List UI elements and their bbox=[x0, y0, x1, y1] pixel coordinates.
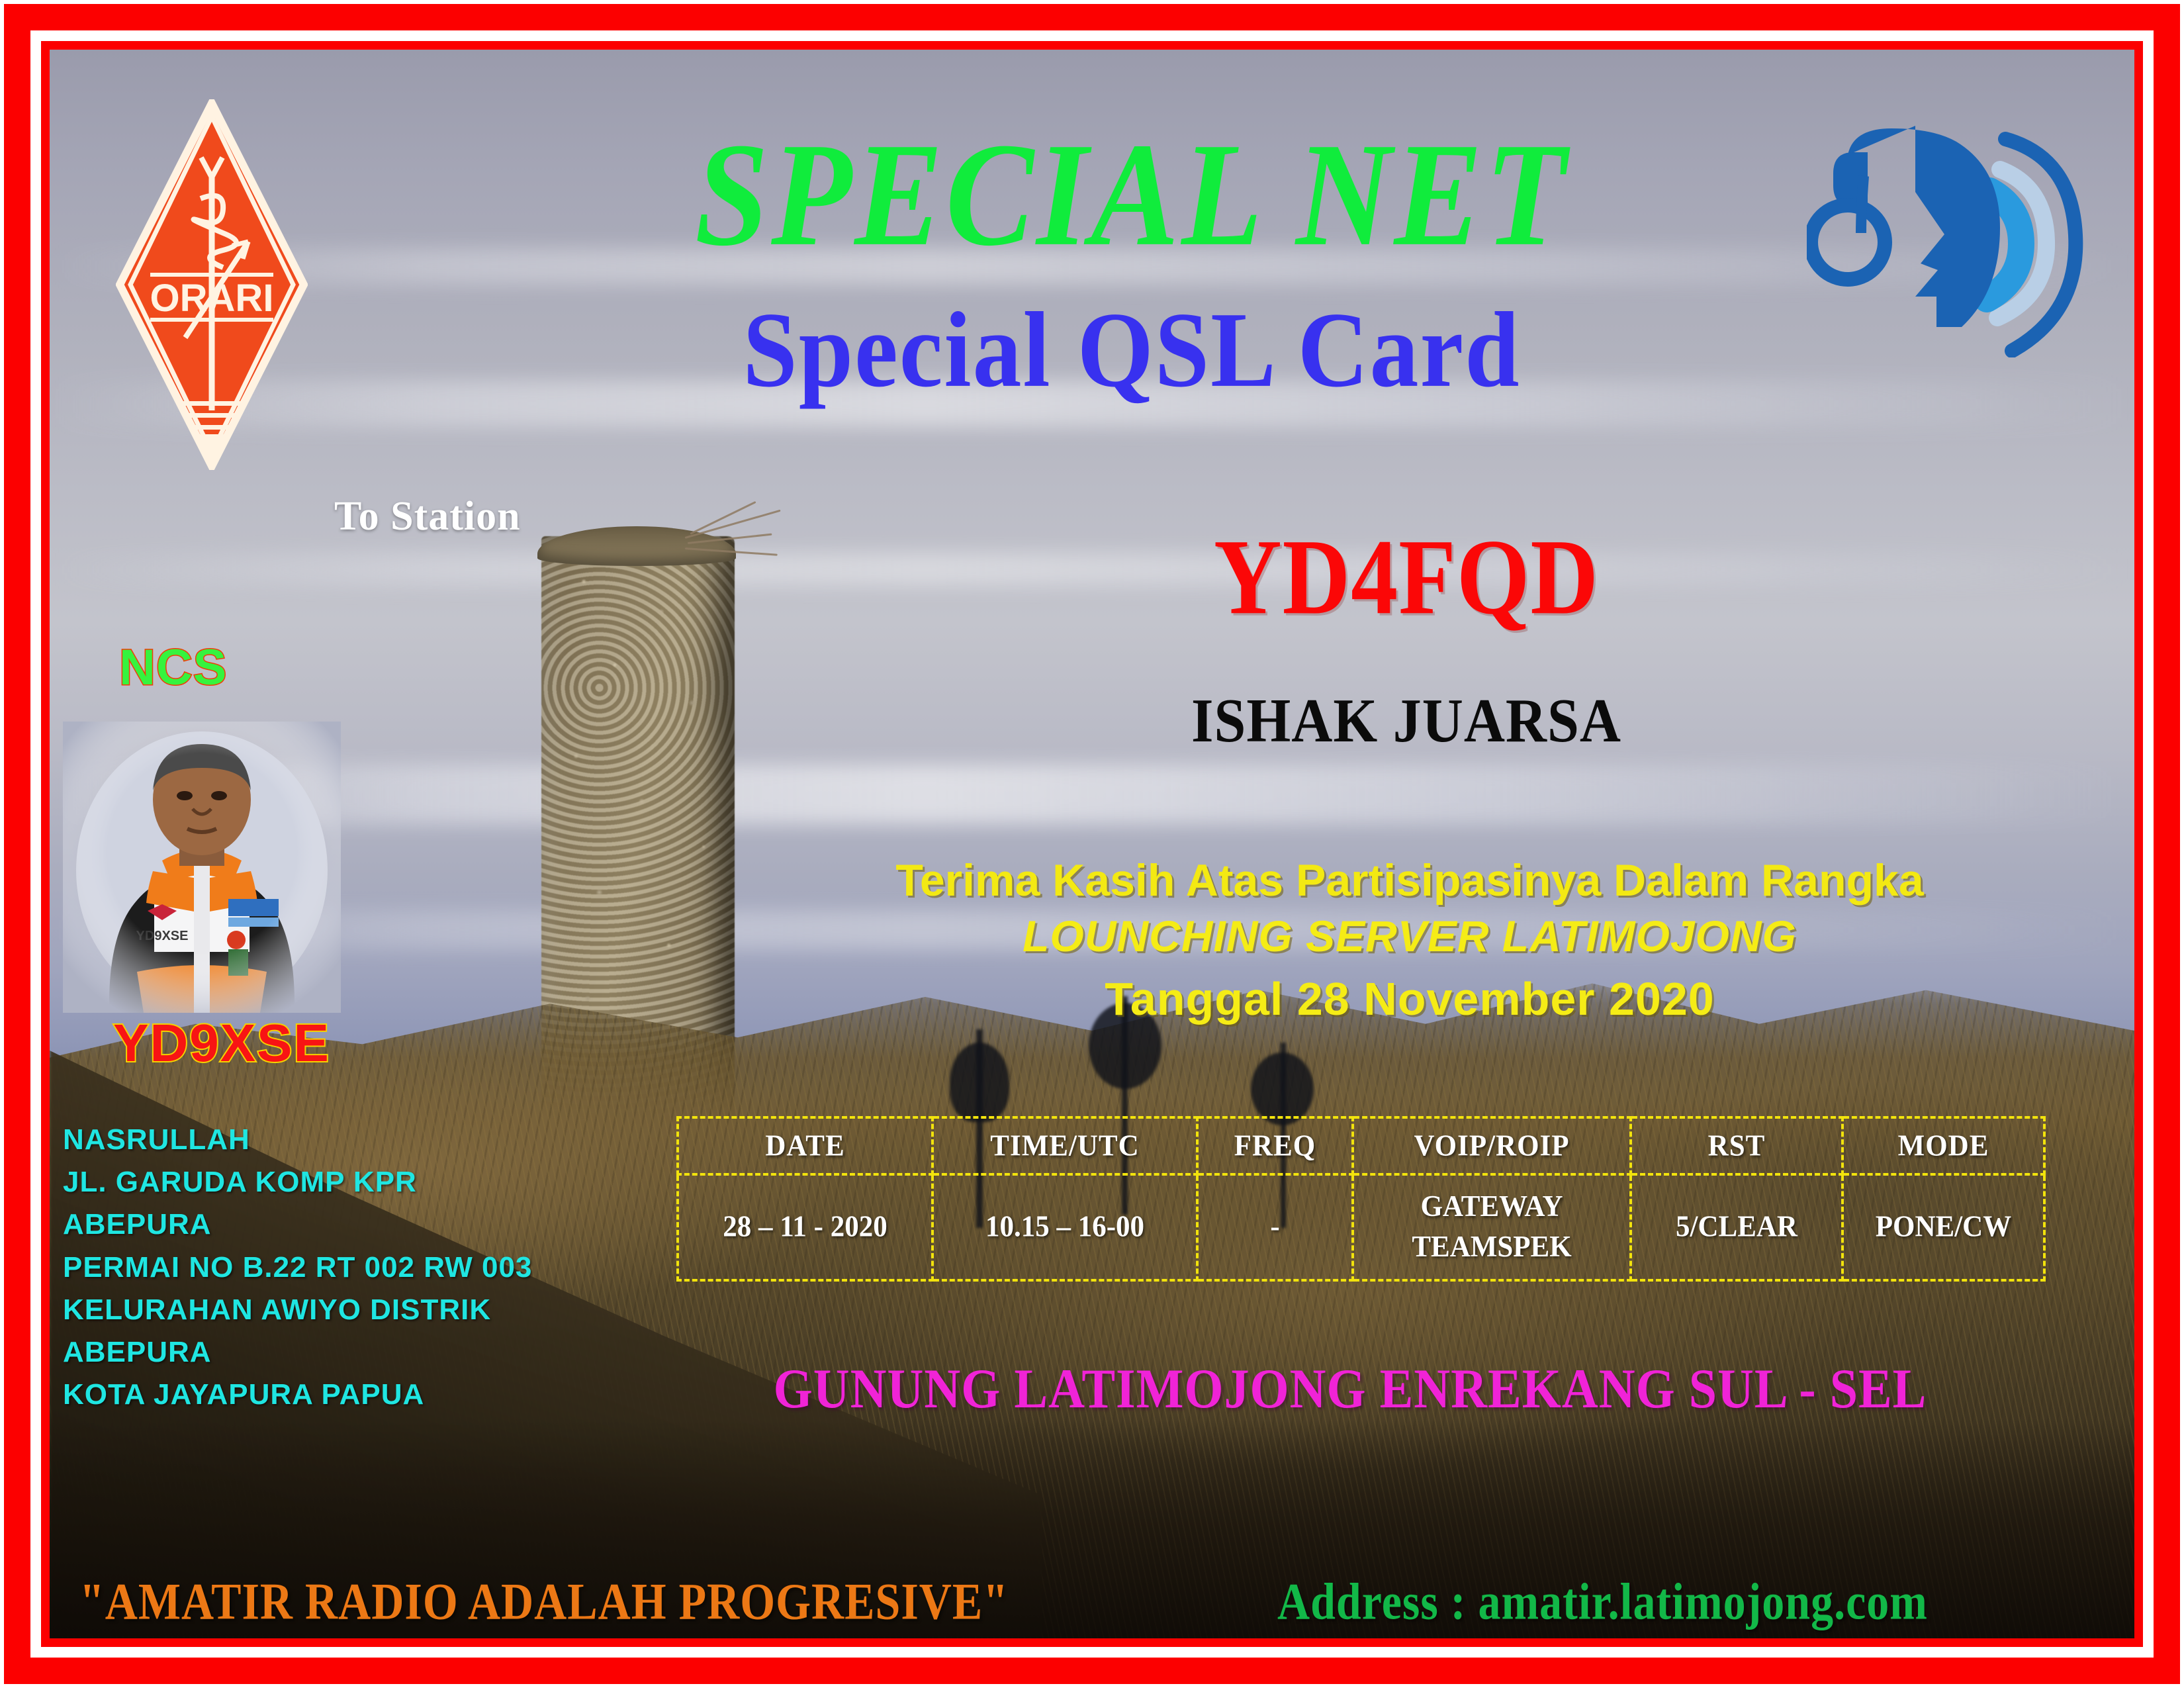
column-header-mode: MODE bbox=[1843, 1116, 2044, 1176]
to-station-label: To Station bbox=[334, 493, 521, 540]
operator-name: ISHAK JUARSA bbox=[721, 689, 2091, 752]
cell-voip-roip: GATEWAY TEAMSPEK bbox=[1353, 1172, 1631, 1283]
cell-voip-roip-line1: GATEWAY bbox=[1355, 1187, 1629, 1227]
column-header-time-utc: TIME/UTC bbox=[933, 1116, 1197, 1176]
event-thanks-block: Terima Kasih Atas Partisipasinya Dalam R… bbox=[721, 854, 2098, 1033]
page-subtitle-qsl-card: Special QSL Card bbox=[0, 297, 2184, 404]
station-callsign: YD4FQD bbox=[721, 522, 2091, 630]
cell-rst: 5/CLEAR bbox=[1631, 1172, 1843, 1283]
address-line-4: PERMAI NO B.22 RT 002 RW 003 bbox=[63, 1246, 532, 1289]
column-header-rst: RST bbox=[1631, 1116, 1843, 1176]
cell-mode: PONE/CW bbox=[1843, 1172, 2044, 1283]
event-line-1: Terima Kasih Atas Partisipasinya Dalam R… bbox=[721, 854, 2098, 907]
event-line-3: Tanggal 28 November 2020 bbox=[721, 966, 2098, 1033]
address-line-5: KELURAHAN AWIYO DISTRIK bbox=[63, 1289, 532, 1331]
ncs-operator-portrait: YD9XSE bbox=[63, 722, 341, 1013]
address-line-7: KOTA JAYAPURA PAPUA bbox=[63, 1374, 532, 1416]
qsl-card: ORARI SPECIAL NET Special QSL Card To St… bbox=[0, 0, 2184, 1688]
content-layer: ORARI SPECIAL NET Special QSL Card To St… bbox=[0, 0, 2184, 1688]
table-header-row: DATE TIME/UTC FREQ VOIP/ROIP RST MODE bbox=[678, 1117, 2044, 1174]
page-title-special-net: SPECIAL NET bbox=[0, 121, 2184, 269]
cell-freq: - bbox=[1197, 1172, 1353, 1283]
address-line-1: NASRULLAH bbox=[63, 1119, 532, 1161]
address-line-3: ABEPURA bbox=[63, 1203, 532, 1246]
mailing-address: NASRULLAH JL. GARUDA KOMP KPR ABEPURA PE… bbox=[63, 1119, 532, 1417]
qso-log-table: DATE TIME/UTC FREQ VOIP/ROIP RST MODE 28… bbox=[676, 1116, 2046, 1282]
location-text: GUNUNG LATIMOJONG ENREKANG SUL - SEL bbox=[649, 1357, 2052, 1421]
column-header-voip-roip: VOIP/ROIP bbox=[1353, 1116, 1631, 1176]
event-line-2: LOUNCHING SERVER LATIMOJONG bbox=[721, 907, 2098, 966]
address-line-2: JL. GARUDA KOMP KPR bbox=[63, 1161, 532, 1203]
address-line-6: ABEPURA bbox=[63, 1331, 532, 1374]
column-header-freq: FREQ bbox=[1197, 1116, 1353, 1176]
ncs-operator-photo: YD9XSE bbox=[63, 722, 341, 1013]
table-row: 28 – 11 - 2020 10.15 – 16-00 - GATEWAY T… bbox=[678, 1174, 2044, 1280]
ncs-callsign: YD9XSE bbox=[83, 1013, 361, 1074]
cell-time-utc: 10.15 – 16-00 bbox=[933, 1172, 1197, 1283]
footer-slogan: "AMATIR RADIO ADALAH PROGRESIVE" bbox=[79, 1571, 1009, 1632]
footer-address-url: Address : amatir.latimojong.com bbox=[1277, 1571, 1928, 1632]
cell-voip-roip-line2: TEAMSPEK bbox=[1355, 1227, 1629, 1268]
ncs-label: NCS bbox=[119, 639, 227, 696]
column-header-date: DATE bbox=[678, 1116, 933, 1176]
cell-date: 28 – 11 - 2020 bbox=[678, 1172, 933, 1283]
